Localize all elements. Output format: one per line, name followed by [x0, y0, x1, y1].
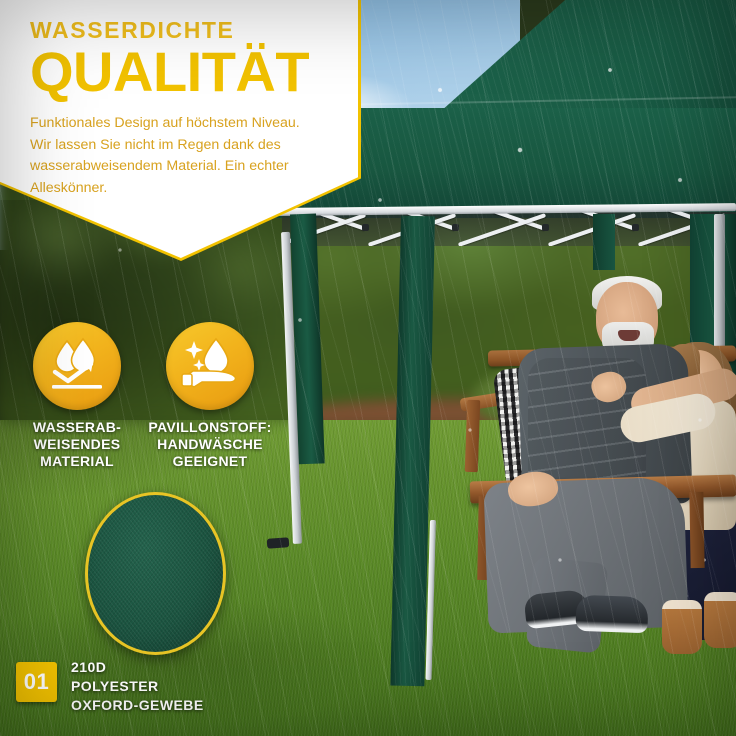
spec-number-badge: 01 — [16, 662, 57, 702]
gazebo-foot-left — [267, 537, 290, 549]
spec-text-line2: POLYESTER — [71, 677, 204, 696]
spec-callout: 01 210D POLYESTER OXFORD-GEWEBE — [16, 662, 204, 715]
spec-text-line1: 210D — [71, 658, 204, 677]
girl-boot-left — [662, 600, 702, 654]
banner-content: WASSERDICHTE QUALITÄT Funktionales Desig… — [30, 18, 330, 199]
feature-label-2-line2: HANDWÄSCHE — [147, 436, 273, 453]
man-mouth — [618, 330, 640, 341]
feature-label-2-line3: GEEIGNET — [147, 453, 273, 470]
banner-eyebrow: WASSERDICHTE — [30, 18, 330, 42]
man-shoe-right — [575, 595, 648, 633]
feature-label-1-line2: WEISENDES — [14, 436, 140, 453]
hand-wash-icon — [180, 337, 240, 395]
feature-label-2-line1: PAVILLONSTOFF: — [147, 419, 273, 436]
feature-circle-1 — [33, 322, 121, 410]
girl-boot-right — [704, 592, 736, 648]
feature-hand-wash: PAVILLONSTOFF: HANDWÄSCHE GEEIGNET — [147, 322, 273, 470]
water-repellent-icon — [47, 337, 107, 395]
feature-water-repellent: WASSERAB- WEISENDES MATERIAL — [14, 322, 140, 470]
feature-label-2: PAVILLONSTOFF: HANDWÄSCHE GEEIGNET — [147, 419, 273, 470]
gazebo-curtain-mid — [593, 214, 615, 270]
banner-body-text: Funktionales Design auf höchstem Niveau.… — [30, 113, 314, 199]
feature-circle-2 — [166, 322, 254, 410]
banner-headline: QUALITÄT — [30, 44, 330, 100]
feature-label-1: WASSERAB- WEISENDES MATERIAL — [14, 419, 140, 470]
spec-text-line3: OXFORD-GEWEBE — [71, 696, 204, 715]
product-feature-image: WASSERDICHTE QUALITÄT Funktionales Desig… — [0, 0, 736, 736]
headline-banner: WASSERDICHTE QUALITÄT Funktionales Desig… — [0, 0, 361, 261]
bench-leg-right — [689, 492, 704, 568]
feature-label-1-line3: MATERIAL — [14, 453, 140, 470]
fabric-swatch — [85, 492, 226, 655]
bench-arm-post — [465, 400, 481, 472]
spec-text: 210D POLYESTER OXFORD-GEWEBE — [71, 658, 204, 715]
feature-label-1-line1: WASSERAB- — [14, 419, 140, 436]
